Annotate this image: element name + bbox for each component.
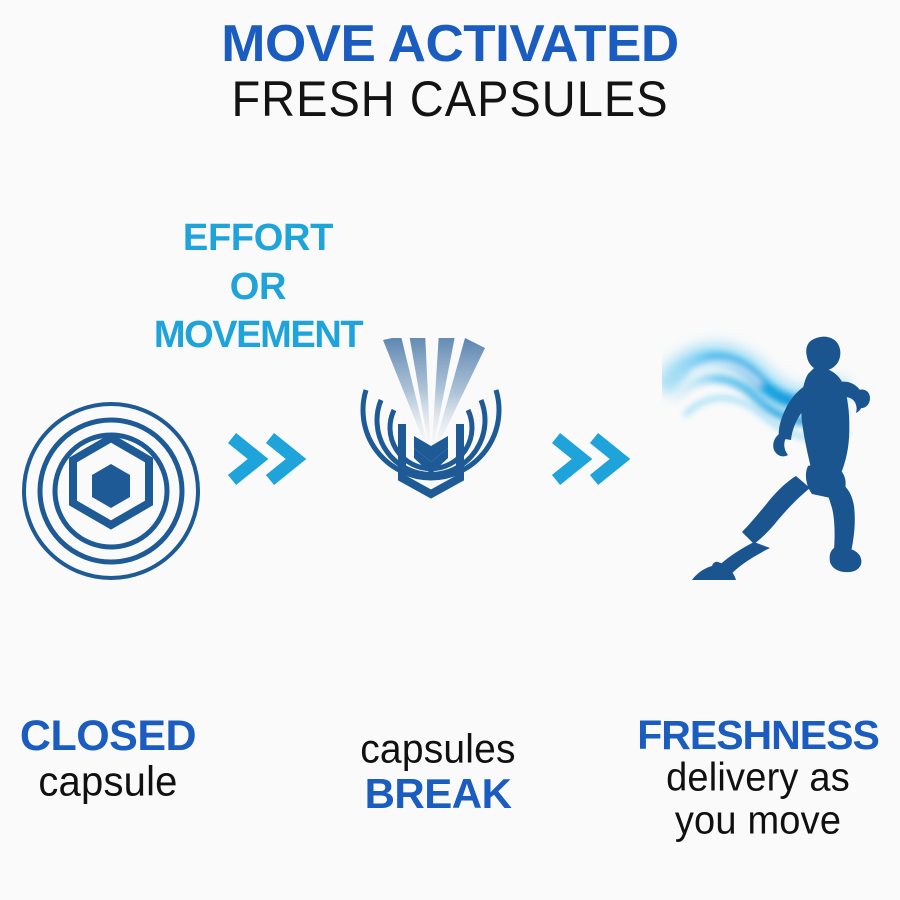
caption-break-bold: BREAK	[318, 772, 558, 817]
caption-freshness-delivery: FRESHNESS delivery as you move	[608, 714, 900, 843]
double-chevron-right-icon-1	[228, 430, 306, 488]
double-chevron-right-icon-2	[552, 430, 630, 488]
caption-freshness-thin-2: you move	[608, 799, 900, 844]
stage-icon-row	[0, 380, 900, 600]
effort-line-1: EFFORT	[78, 214, 438, 263]
caption-closed-bold: CLOSED	[0, 714, 216, 760]
caption-freshness-thin-1: delivery as	[608, 756, 900, 801]
caption-break-thin: capsules	[318, 727, 558, 773]
caption-closed-thin: capsule	[0, 758, 216, 805]
infographic-poster: MOVE ACTIVATED FRESH CAPSULES EFFORT OR …	[0, 0, 900, 900]
stage-captions-row: CLOSED capsule capsules BREAK FRESHNESS …	[0, 714, 900, 900]
caption-freshness-bold: FRESHNESS	[608, 714, 900, 757]
running-person-icon	[662, 330, 892, 585]
closed-capsule-icon	[18, 398, 204, 589]
caption-capsules-break: capsules BREAK	[318, 728, 558, 817]
headline-block: MOVE ACTIVATED FRESH CAPSULES	[0, 18, 900, 126]
headline-primary: MOVE ACTIVATED	[0, 18, 900, 71]
breaking-capsule-icon	[336, 338, 526, 593]
caption-closed-capsule: CLOSED capsule	[0, 714, 216, 805]
headline-secondary: FRESH CAPSULES	[0, 69, 900, 128]
effort-line-2: OR	[78, 263, 438, 312]
